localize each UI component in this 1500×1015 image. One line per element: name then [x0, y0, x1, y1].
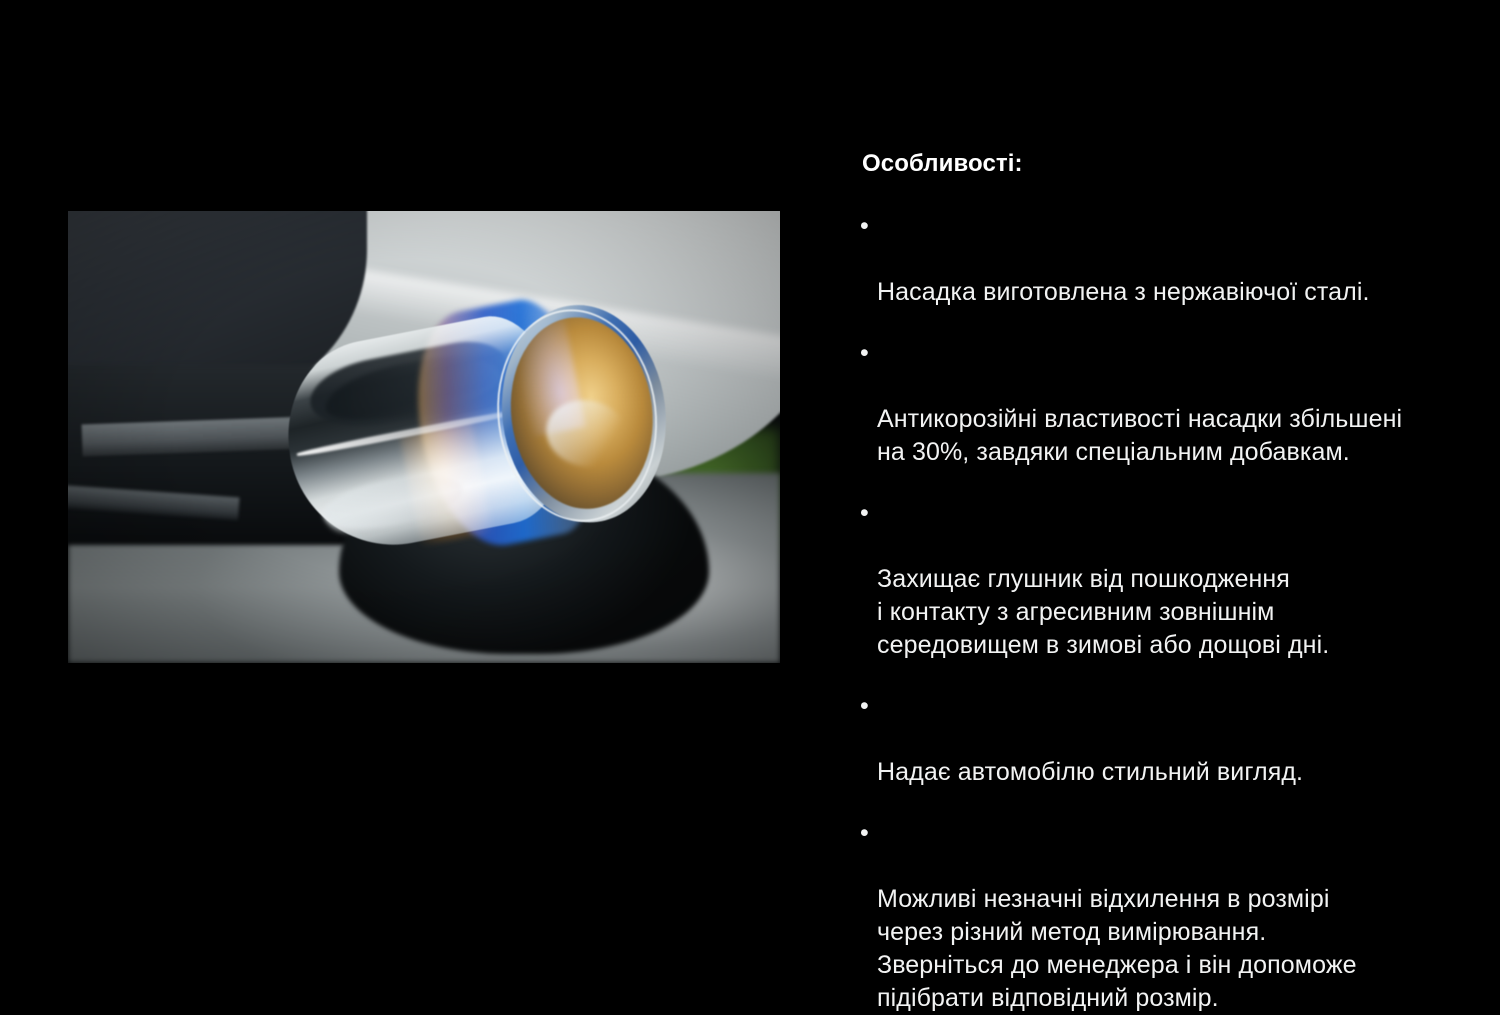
features-list: • Насадка виготовлена з нержавіючої стал…: [860, 210, 1470, 1015]
feature-text: Захищає глушник від пошкодження і контак…: [877, 565, 1329, 659]
photo-stage: [68, 211, 780, 663]
feature-text: Надає автомобілю стильний вигляд.: [877, 758, 1303, 786]
bullet-icon: •: [860, 497, 869, 530]
feature-item: • Захищає глушник від пошкодження і конт…: [860, 497, 1470, 662]
slide-root: Особливості: • Насадка виготовлена з нер…: [0, 0, 1500, 858]
feature-text: Можливі незначні відхилення в розмірі че…: [877, 885, 1357, 1012]
feature-text: Насадка виготовлена з нержавіючої сталі.: [877, 278, 1370, 306]
bullet-icon: •: [860, 210, 869, 243]
product-photo: [68, 211, 780, 663]
feature-item: • Можливі незначні відхилення в розмірі …: [860, 817, 1470, 1015]
features-heading: Особливості:: [862, 148, 1470, 180]
feature-item: • Надає автомобілю стильний вигляд.: [860, 690, 1470, 789]
bullet-icon: •: [860, 690, 869, 723]
features-panel: Особливості: • Насадка виготовлена з нер…: [860, 148, 1470, 1015]
feature-item: • Антикорозійні властивості насадки збіл…: [860, 337, 1470, 469]
bullet-icon: •: [860, 817, 869, 850]
feature-item: • Насадка виготовлена з нержавіючої стал…: [860, 210, 1470, 309]
bullet-icon: •: [860, 337, 869, 370]
feature-text: Антикорозійні властивості насадки збільш…: [877, 405, 1402, 466]
